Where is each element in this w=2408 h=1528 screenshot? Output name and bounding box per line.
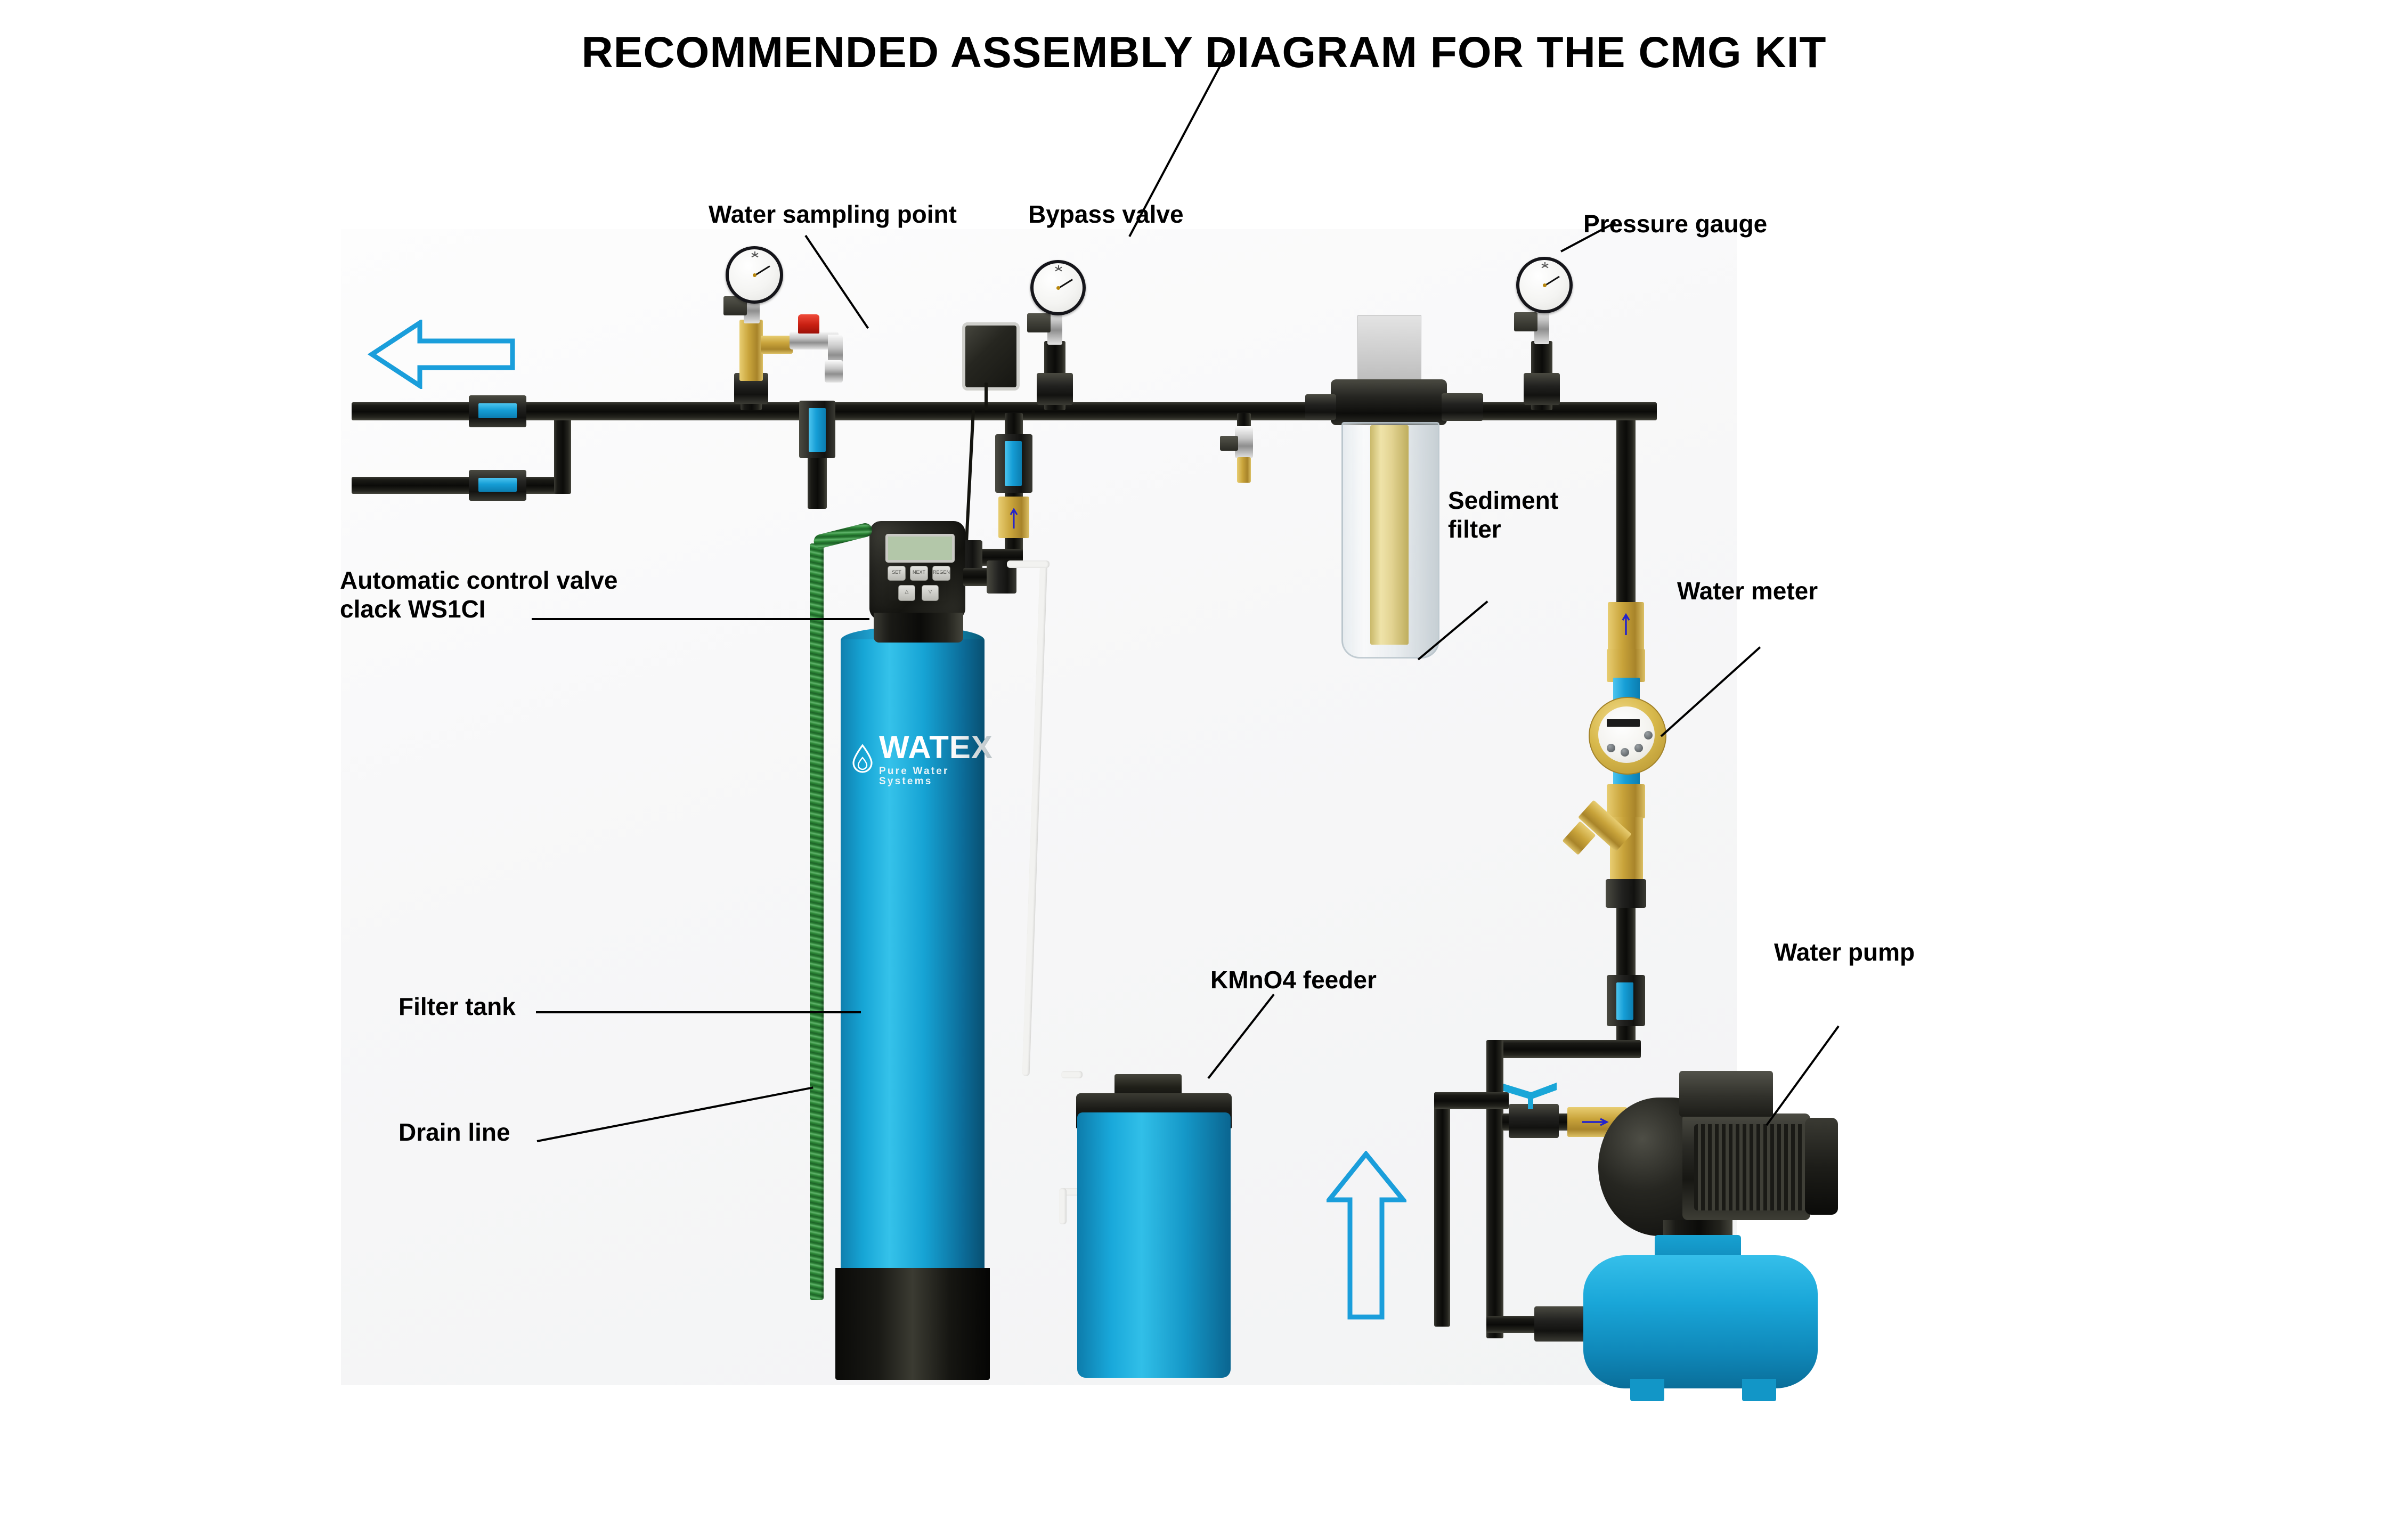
air-valve-wing[interactable]: [1220, 436, 1238, 451]
water-meter-register: [1607, 719, 1640, 727]
label-kmno4-feeder: KMnO4 feeder: [1210, 965, 1377, 994]
left-loop-top-stub: [554, 402, 623, 420]
pump-tank-tee-union: [1534, 1306, 1585, 1342]
sampling-tap-hose-barb: [825, 360, 843, 383]
injector-flow-arrow-icon: [1008, 506, 1019, 530]
inlet-flow-arrow: [1327, 1151, 1406, 1321]
filter-tank-base: [835, 1268, 990, 1380]
sediment-filter-cap: [1331, 379, 1447, 425]
return-pipe-lower: [352, 477, 565, 494]
control-valve-button-down[interactable]: ▽: [922, 585, 939, 601]
meter-top-nut: [1607, 649, 1645, 682]
control-valve-button-up[interactable]: △: [898, 585, 915, 601]
label-automatic-control-valve: Automatic control valve clack WS1CI: [340, 566, 617, 624]
water-meter-subdial-3: [1634, 744, 1643, 752]
page-title: RECOMMENDED ASSEMBLY DIAGRAM FOR THE CMG…: [0, 28, 2408, 78]
pressure-tank-foot-left: [1630, 1379, 1664, 1401]
drain-line-hose: [810, 543, 824, 1300]
control-valve-neck: [874, 613, 963, 643]
label-water-pump: Water pump: [1774, 938, 1915, 966]
diagram-canvas: RECOMMENDED ASSEMBLY DIAGRAM FOR THE CMG…: [0, 0, 2408, 1528]
label-drain-line: Drain line: [398, 1118, 510, 1147]
brine-line-upper-stub: [1007, 560, 1050, 568]
sampling-brass-arm: [761, 336, 793, 354]
label-water-sampling-point: Water sampling point: [709, 200, 957, 229]
meter-lower-connector: [1607, 784, 1645, 818]
pump-inlet-valve-handle[interactable]: [1501, 1080, 1560, 1110]
sediment-filter-outlet-union: [1442, 393, 1483, 421]
water-meter-subdial-1: [1607, 744, 1615, 752]
water-meter-subdial-4: [1644, 731, 1653, 739]
leader-automatic-control-valve: [532, 618, 869, 620]
pressure-tank-foot-right: [1742, 1379, 1776, 1401]
logo-brand: WATEX: [879, 732, 993, 763]
pressure-tank: [1583, 1255, 1818, 1388]
leader-water-pump: [1766, 1026, 1839, 1126]
control-valve-lcd-display: [885, 534, 955, 563]
meter-flow-arrow-icon: [1621, 612, 1631, 636]
label-sediment-line2: filter: [1448, 515, 1558, 543]
pump-suction-drop: [1434, 1092, 1450, 1327]
control-valve-button-regen[interactable]: REGEN: [932, 566, 950, 581]
gauge3-riser-union: [1524, 373, 1560, 405]
label-filter-tank: Filter tank: [398, 992, 516, 1021]
bypass-valve-handle[interactable]: [809, 408, 826, 452]
gauge3-needle-valve-wing[interactable]: [1514, 312, 1537, 331]
pump-motor-endcap: [1805, 1118, 1838, 1215]
kmno4-feeder-body: [1077, 1112, 1231, 1378]
outlet-flow-arrow: [368, 320, 517, 389]
pump-terminal-box: [1679, 1071, 1773, 1117]
label-bypass-valve: Bypass valve: [1028, 200, 1184, 229]
label-water-meter: Water meter: [1677, 576, 1818, 605]
riser-lower-ball-valve-handle[interactable]: [1616, 982, 1633, 1020]
pump-suction-horizontal: [1434, 1092, 1509, 1109]
gauge2-riser-union: [1037, 373, 1073, 405]
leader-filter-tank: [536, 1011, 861, 1013]
sampling-tap-handle[interactable]: [798, 314, 819, 334]
gauge2-needle-valve-wing[interactable]: [1027, 313, 1051, 332]
water-drop-icon: [851, 744, 874, 774]
air-valve-outlet: [1237, 457, 1251, 483]
water-meter-subdial-2: [1621, 748, 1629, 757]
logo-tagline: Pure Water Systems: [879, 766, 993, 786]
meter-lower-black-union: [1606, 879, 1646, 908]
label-sediment-line1: Sediment: [1448, 486, 1558, 515]
injector-ball-valve-handle[interactable]: [1005, 441, 1022, 486]
ball-valve-handle-left-upper[interactable]: [478, 403, 517, 418]
brine-line-overflow-drop: [1059, 1188, 1067, 1224]
label-sediment-filter: Sediment filter: [1448, 486, 1558, 544]
right-main-elbow-top: [1598, 402, 1636, 420]
watex-logo: WATEX Pure Water Systems: [851, 734, 979, 783]
pump-check-valve-arrow-icon: [1581, 1117, 1609, 1127]
brine-line-tank-entry: [1061, 1071, 1083, 1078]
pressure-switch-wire: [985, 383, 988, 410]
pressure-gauge-sampling: [726, 246, 783, 304]
pressure-gauge-right: [1516, 257, 1573, 313]
ball-valve-handle-left-lower[interactable]: [478, 478, 517, 492]
pump-motor-cooling-fins: [1694, 1124, 1806, 1210]
sampling-brass-tee: [739, 320, 763, 381]
pressure-gauge-mid: [1030, 260, 1086, 315]
sediment-filter-inlet-union: [1305, 394, 1336, 420]
control-valve-button-next[interactable]: NEXT: [910, 566, 928, 581]
pressure-switch-box[interactable]: [962, 322, 1020, 391]
pump-manifold-top: [1486, 1040, 1641, 1058]
sediment-filter-cartridge: [1370, 425, 1409, 645]
control-valve-button-set-clock[interactable]: SET: [888, 566, 906, 581]
label-acv-line1: Automatic control valve: [340, 566, 617, 595]
